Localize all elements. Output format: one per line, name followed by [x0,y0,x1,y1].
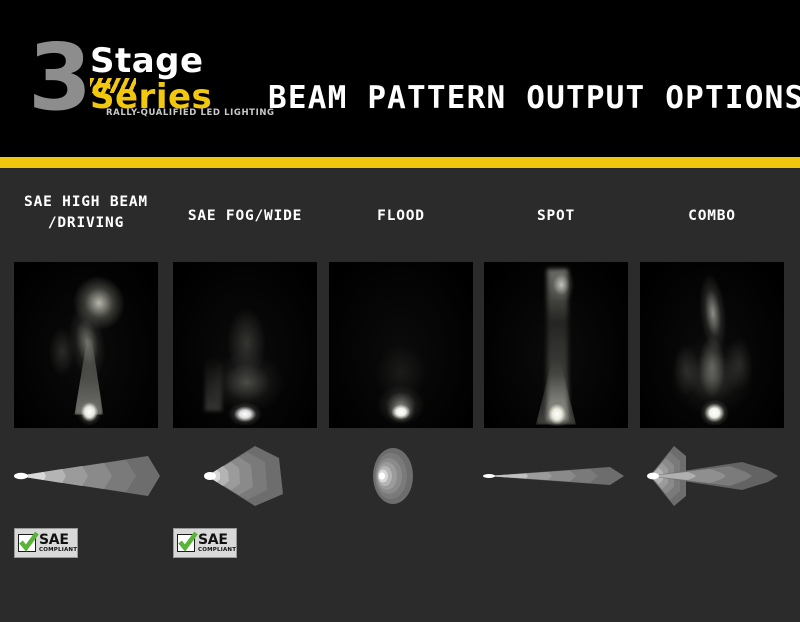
sae-compliant-badge: SAE COMPLIANT [14,528,78,558]
column-flood: FLOOD [323,168,479,588]
logo-tagline: RALLY-QUALIFIED LED LIGHTING [106,108,275,118]
column-label: SAE FOG/WIDE [167,206,323,227]
column-label-line1: COMBO [688,208,736,224]
badge-title: SAE [39,533,77,547]
column-label: SAE HIGH BEAM /DRIVING [8,192,164,234]
beam-photo-sae-fog-wide [173,262,317,428]
beam-diagram-flood [323,444,479,508]
checkmark-icon [18,534,36,552]
badge-subtitle: COMPLIANT [39,548,77,554]
column-label-line2: /DRIVING [48,215,124,231]
column-label-line1: SAE HIGH BEAM [24,194,148,210]
beam-photo-spot [484,262,628,428]
page-title: BEAM PATTERN OUTPUT OPTIONS [268,80,800,116]
beam-photo-sae-high-beam-driving [14,262,158,428]
column-label-line1: SPOT [537,208,575,224]
beam-diagram-sae-fog-wide [167,444,323,508]
column-sae-fog-wide: SAE FOG/WIDE [167,168,323,588]
badge-title: SAE [198,533,236,547]
brand-logo: 3 Stage Series RALLY-QUALIFIED LED LIGHT… [28,30,248,130]
column-label: FLOOD [323,206,479,227]
column-combo: COMBO [634,168,790,588]
column-label: SPOT [478,206,634,227]
logo-numeral: 3 [28,32,88,124]
header-bar: 3 Stage Series RALLY-QUALIFIED LED LIGHT… [0,0,800,157]
column-label-line1: FLOOD [377,208,425,224]
poster-root: 3 Stage Series RALLY-QUALIFIED LED LIGHT… [0,0,800,622]
logo-word-stage: Stage [90,44,212,78]
column-sae-high-beam-driving: SAE HIGH BEAM /DRIVING [8,168,164,588]
column-label: COMBO [634,206,790,227]
beam-diagram-combo [634,444,790,508]
badge-subtitle: COMPLIANT [198,548,236,554]
logo-wordmark: Stage Series [90,44,212,114]
accent-bar [0,157,800,168]
beam-diagram-sae-high-beam-driving [8,444,164,508]
sae-compliant-badge: SAE COMPLIANT [173,528,237,558]
column-spot: SPOT [478,168,634,588]
beam-photo-flood [329,262,473,428]
column-label-line1: SAE FOG/WIDE [188,208,302,224]
beam-diagram-spot [478,444,634,508]
checkmark-icon [177,534,195,552]
beam-photo-combo [640,262,784,428]
